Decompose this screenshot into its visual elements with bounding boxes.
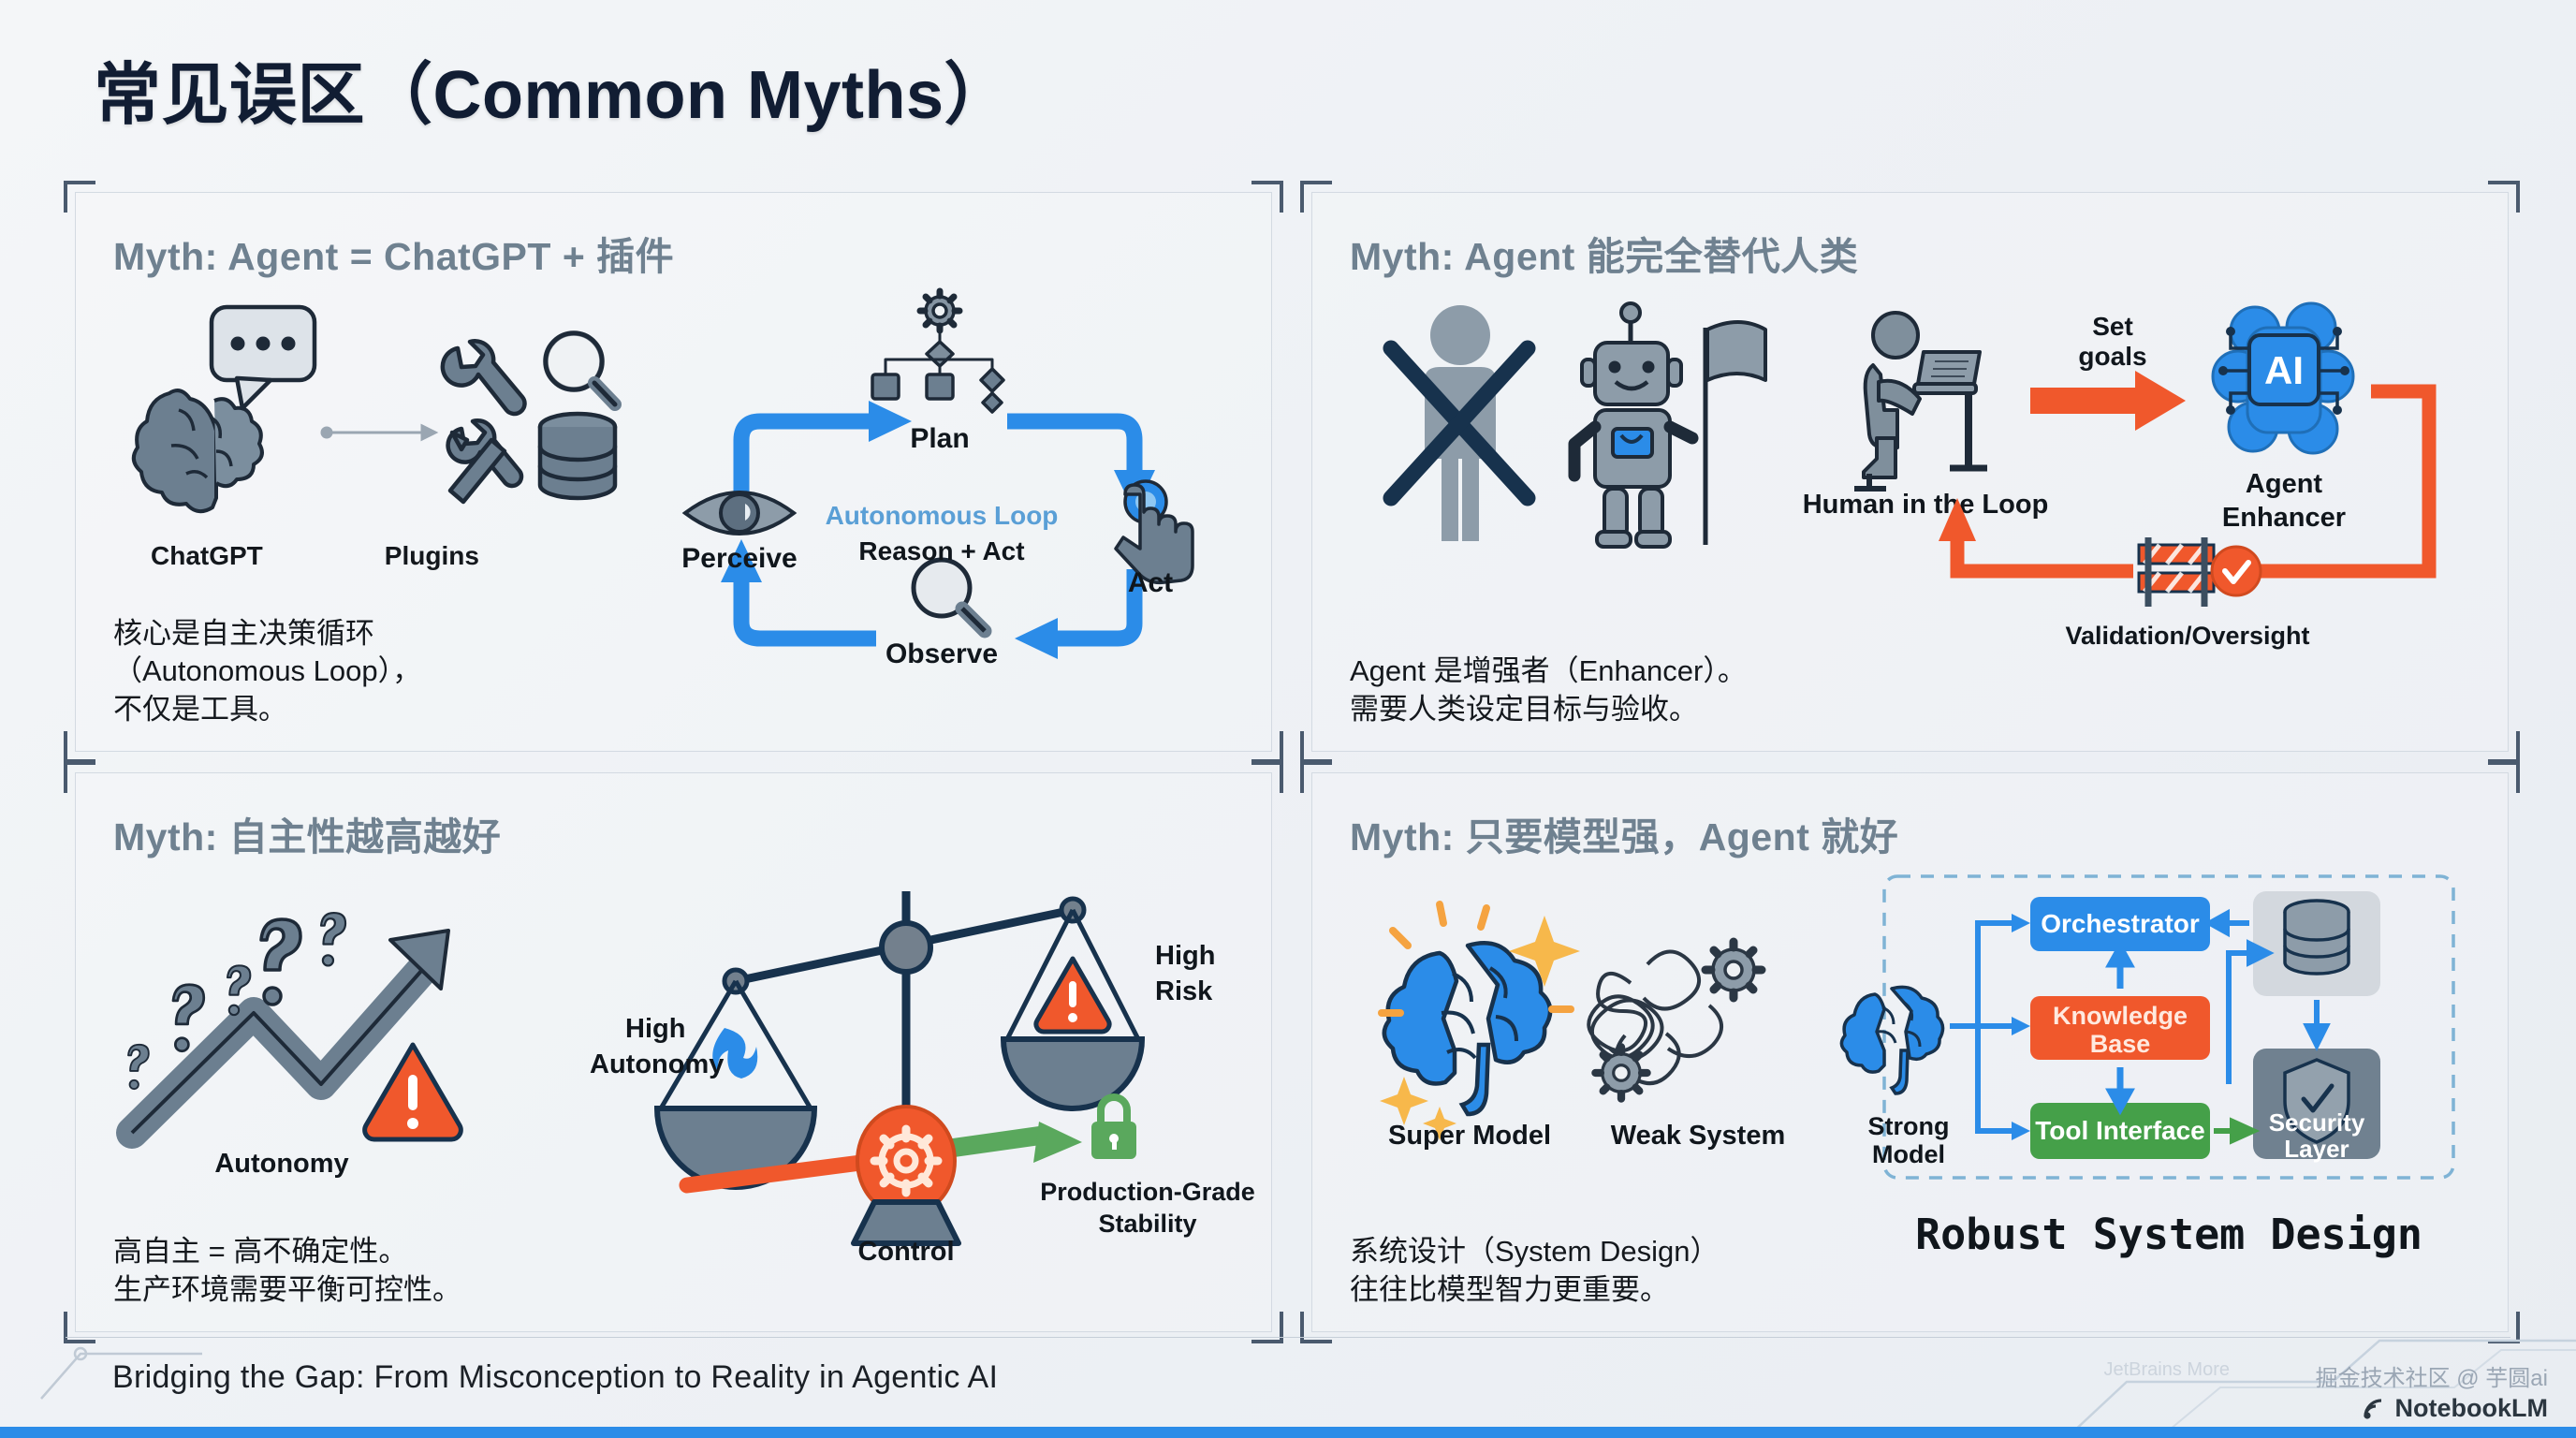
loop-node-label-act: Act bbox=[1127, 567, 1172, 598]
flow-label-agent-2: Enhancer bbox=[2222, 503, 2346, 533]
myth-caption: 高自主 = 高不确定性。 生产环境需要平衡可控性。 bbox=[113, 1233, 461, 1309]
arch-box-label-tool-interface: Tool Interface bbox=[2035, 1116, 2205, 1145]
autonomous-loop-diagram: Plan Act Observe bbox=[640, 290, 1221, 683]
watermark-brand-text: NotebookLM bbox=[2395, 1393, 2548, 1425]
footer-divider bbox=[66, 1337, 2510, 1338]
icon-label-weak-system: Weak System bbox=[1611, 1121, 1785, 1151]
human-in-loop-flow: Human in the Loop Set goals bbox=[1852, 290, 2470, 665]
myth-caption: 系统设计（System Design） 往往比模型智力更重要。 bbox=[1350, 1233, 1719, 1309]
loop-center-subtitle: Reason + Act bbox=[858, 536, 1024, 565]
icon-label-super-model: Super Model bbox=[1388, 1121, 1551, 1151]
crossed-out-person-icon bbox=[1391, 305, 1528, 541]
corner-bracket-top-right bbox=[1251, 181, 1283, 213]
plan-flowchart-icon bbox=[872, 291, 1003, 412]
arch-box-label-knowledge: Knowledge bbox=[2053, 1002, 2188, 1030]
corner-bracket-bottom-left bbox=[1300, 1312, 1332, 1343]
loop-node-label-observe: Observe bbox=[885, 638, 998, 669]
validation-barrier-icon bbox=[2139, 537, 2261, 607]
scale-fulcrum-label: Control bbox=[857, 1237, 954, 1267]
outcome-label-2: Stability bbox=[1098, 1210, 1196, 1238]
gear-small-icons bbox=[1595, 942, 1762, 1099]
autonomy-risk-illustration: Autonomy bbox=[113, 871, 600, 1180]
tools-database-icon bbox=[443, 333, 615, 502]
arch-label-security-2: Layer bbox=[2284, 1135, 2349, 1163]
scale-label-left-2: Autonomy bbox=[590, 1049, 724, 1079]
watermark-block: 掘金技术社区 @ 芋圆ai NotebookLM bbox=[2316, 1365, 2548, 1425]
chatgpt-plugins-illustration bbox=[113, 290, 637, 534]
model-vs-system-illustration: Super Model bbox=[1350, 871, 1837, 1152]
myth-heading: Myth: Agent 能完全替代人类 bbox=[1350, 225, 2470, 281]
observe-magnifier-icon bbox=[914, 560, 985, 631]
arch-label-security-1: Security bbox=[2269, 1108, 2365, 1137]
flow-arrow-label-goals: goals bbox=[2078, 342, 2146, 371]
corner-bracket-bottom-left bbox=[64, 1312, 95, 1343]
loop-arrow-act-to-observe bbox=[1052, 569, 1134, 638]
sparkling-brain-icon bbox=[1380, 904, 1580, 1140]
chat-bubble-icon bbox=[212, 307, 315, 408]
corner-bracket-top-left bbox=[64, 761, 95, 793]
watermark-community: 掘金技术社区 @ 芋圆ai bbox=[2316, 1365, 2548, 1393]
corner-bracket-top-right bbox=[2488, 761, 2520, 793]
loop-center-title: Autonomous Loop bbox=[825, 501, 1058, 530]
corner-bracket-top-left bbox=[64, 181, 95, 213]
watermark-notebooklm: NotebookLM bbox=[2316, 1393, 2548, 1425]
arch-link-db-security bbox=[2307, 1000, 2326, 1045]
myth-heading: Myth: 自主性越高越好 bbox=[113, 805, 1234, 861]
scale-pan-right bbox=[1003, 910, 1142, 1108]
arch-label-strong-model-1: Strong bbox=[1868, 1112, 1950, 1140]
connector-arrow-icon bbox=[322, 426, 435, 439]
loop-arrow-perceive-to-plan bbox=[741, 421, 874, 506]
arch-box-label-base: Base bbox=[2090, 1030, 2151, 1058]
corner-bracket-bottom-left bbox=[1300, 731, 1332, 763]
database-icon bbox=[2285, 901, 2349, 974]
arch-link-db-orchestrator bbox=[2210, 914, 2249, 932]
warning-triangle-icon bbox=[1036, 959, 1109, 1032]
balance-scale-diagram: High Autonomy High Risk bbox=[635, 871, 1234, 1264]
corner-bracket-top-left bbox=[1300, 761, 1332, 793]
myth-heading: Myth: Agent = ChatGPT + 插件 bbox=[113, 225, 1234, 281]
arrowhead-observe bbox=[1015, 618, 1058, 659]
rising-arrow-questions-warning-icon bbox=[128, 913, 461, 1139]
robust-system-architecture: Strong Model Orchestrator bbox=[1852, 871, 2470, 1273]
warning-triangle-icon bbox=[365, 1045, 461, 1139]
corner-bracket-bottom-right bbox=[1251, 1312, 1283, 1343]
strong-model-brain-icon bbox=[1841, 987, 1942, 1093]
loop-node-label-perceive: Perceive bbox=[681, 543, 797, 574]
ai-chip-text: AI bbox=[2264, 348, 2304, 392]
perceive-eye-icon bbox=[685, 492, 794, 534]
corner-bracket-bottom-right bbox=[1251, 731, 1283, 763]
myth-caption: 核心是自主决策循环 （Autonomous Loop）， 不仅是工具。 bbox=[113, 615, 421, 728]
myth-panel-replace-humans: Myth: Agent 能完全替代人类 bbox=[1311, 192, 2509, 752]
flow-arrow-label-set: Set bbox=[2092, 312, 2133, 341]
arch-link-tool-security bbox=[2214, 1122, 2253, 1140]
human-robot-illustration bbox=[1350, 290, 1846, 562]
flow-label-validation: Validation/Oversight bbox=[2065, 622, 2309, 650]
page-title: 常见误区（Common Myths） bbox=[94, 39, 1012, 138]
architecture-footer-label: Robust System Design bbox=[1915, 1210, 2422, 1259]
myth-panel-strong-model: Myth: 只要模型强，Agent 就好 bbox=[1311, 772, 2509, 1332]
tools-cross-icon bbox=[448, 420, 521, 502]
loop-arrow-observe-to-perceive bbox=[741, 579, 876, 638]
control-gear-icon bbox=[854, 1107, 959, 1243]
myths-grid: Myth: Agent = ChatGPT + 插件 bbox=[75, 192, 2509, 1320]
corner-bracket-top-right bbox=[2488, 181, 2520, 213]
myth-heading: Myth: 只要模型强，Agent 就好 bbox=[1350, 805, 2470, 861]
ai-brain-chip-icon: AI bbox=[2213, 303, 2353, 453]
flow-label-agent-1: Agent bbox=[2246, 469, 2323, 499]
robot-with-flag-icon bbox=[1574, 303, 1765, 547]
loop-arrow-plan-to-act bbox=[1007, 421, 1134, 474]
footer-tagline: Bridging the Gap: From Misconception to … bbox=[112, 1359, 998, 1396]
bottom-accent-bar bbox=[0, 1427, 2576, 1438]
corner-bracket-bottom-left bbox=[64, 731, 95, 763]
myth-panel-more-autonomy: Myth: 自主性越高越好 bbox=[75, 772, 1272, 1332]
outcome-label-1: Production-Grade bbox=[1040, 1178, 1255, 1206]
magnifier-icon bbox=[546, 333, 615, 404]
arch-connectors-from-model bbox=[1950, 923, 2012, 1131]
corner-bracket-top-right bbox=[1251, 761, 1283, 793]
scale-label-right-1: High bbox=[1155, 941, 1215, 971]
arch-box-label-orchestrator: Orchestrator bbox=[2041, 909, 2200, 938]
set-goals-arrow-icon bbox=[2030, 371, 2186, 431]
watermark-faint: JetBrains More bbox=[2104, 1359, 2231, 1381]
database-icon bbox=[540, 414, 615, 498]
arch-label-strong-model-2: Model bbox=[1872, 1140, 1945, 1168]
corner-bracket-bottom-right bbox=[2488, 731, 2520, 763]
icon-label-chatgpt: ChatGPT bbox=[151, 541, 263, 571]
scale-pivot bbox=[882, 923, 930, 972]
lock-icon bbox=[1091, 1097, 1136, 1159]
icon-label-autonomy: Autonomy bbox=[214, 1149, 348, 1179]
scale-label-right-2: Risk bbox=[1155, 976, 1213, 1006]
arrowhead-plan bbox=[869, 401, 912, 442]
myth-panel-chatgpt-plugins: Myth: Agent = ChatGPT + 插件 bbox=[75, 192, 1272, 752]
notebooklm-logo-icon bbox=[2362, 1397, 2390, 1421]
loop-node-label-plan: Plan bbox=[910, 423, 969, 454]
scale-pan-left bbox=[657, 981, 814, 1187]
corner-bracket-top-left bbox=[1300, 181, 1332, 213]
corner-bracket-bottom-right bbox=[2488, 1312, 2520, 1343]
human-at-desk-icon bbox=[1854, 313, 1987, 489]
icon-label-plugins: Plugins bbox=[385, 541, 479, 571]
myth-caption: Agent 是增强者（Enhancer）。 需要人类设定目标与验收。 bbox=[1350, 653, 1747, 728]
flow-label-human: Human in the Loop bbox=[1803, 490, 2049, 520]
scale-label-left-1: High bbox=[625, 1014, 685, 1044]
